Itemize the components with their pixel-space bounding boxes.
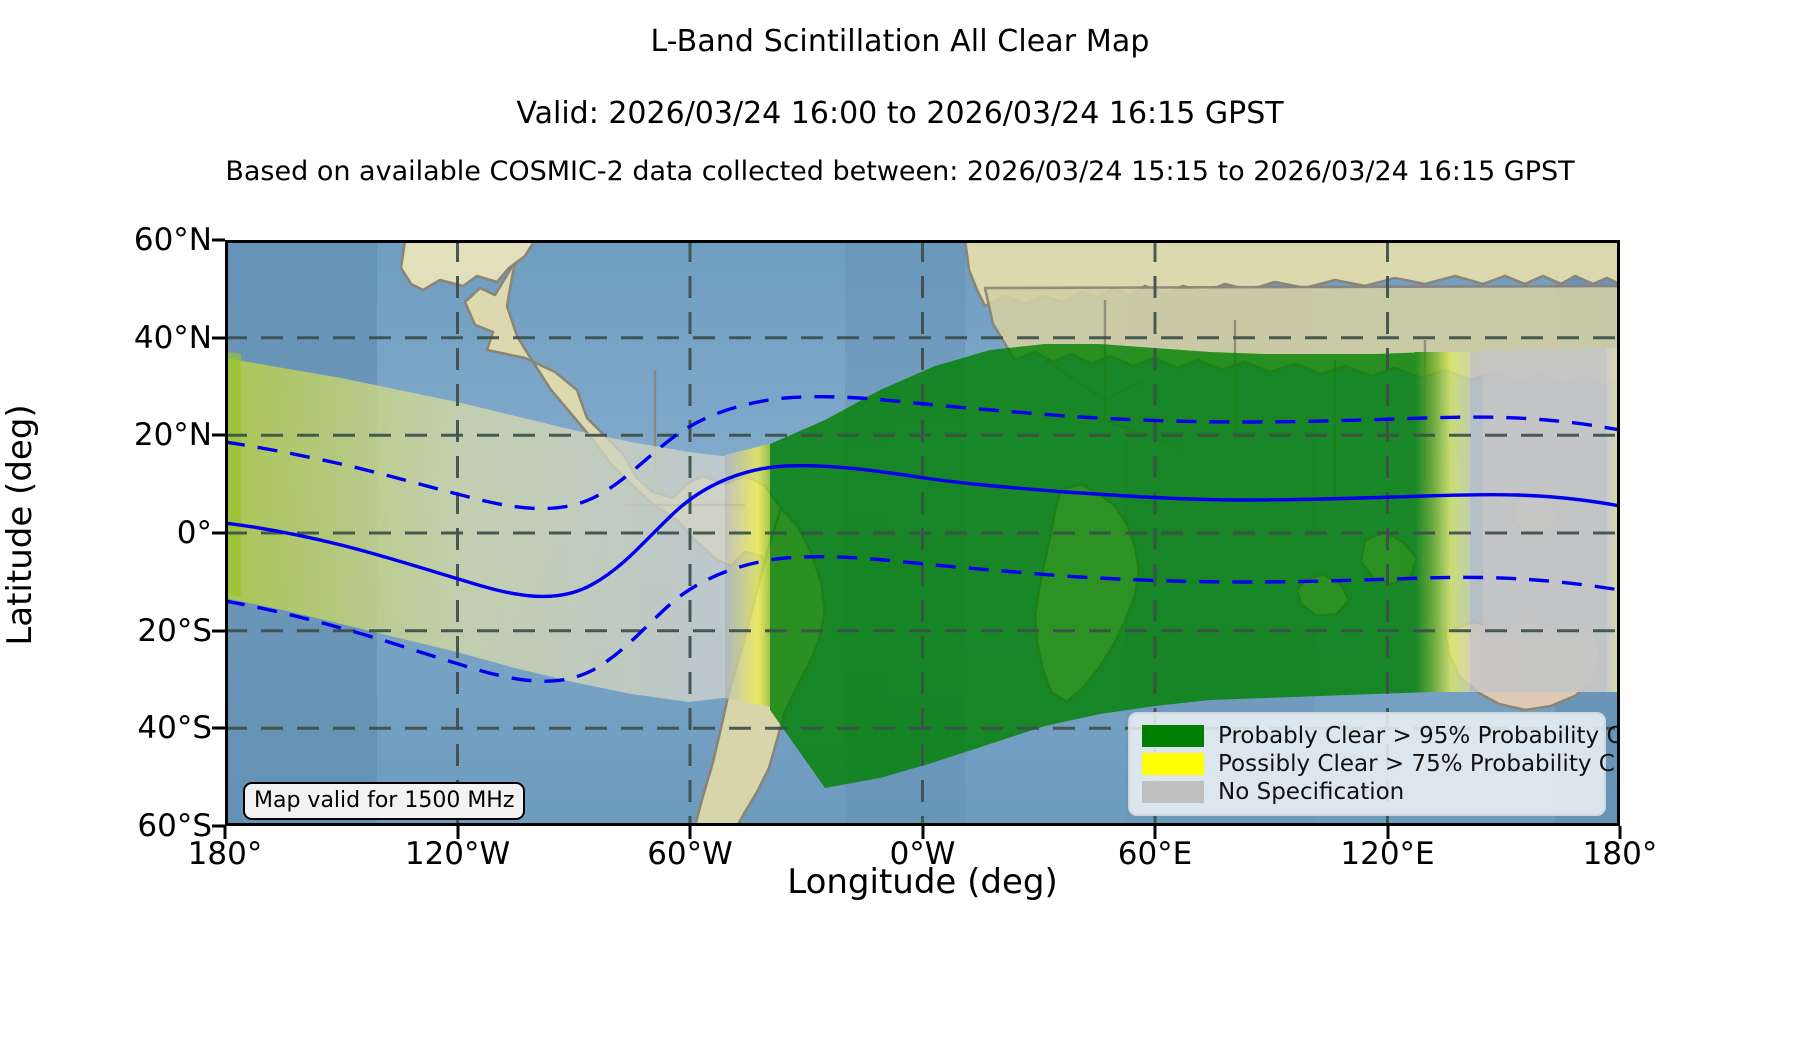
legend-item: Probably Clear > 95% Probability Clear [1142, 722, 1594, 749]
y-tick-label-60n: 60°N [134, 222, 212, 258]
x-tick-label-180w: 180° [188, 836, 263, 872]
legend-label: Probably Clear > 95% Probability Clear [1218, 723, 1620, 749]
x-tick-mark [921, 826, 924, 839]
x-tick-mark [1154, 826, 1157, 839]
legend-swatch-possibly-clear [1142, 753, 1204, 775]
frequency-annotation: Map valid for 1500 MHz [243, 782, 525, 820]
y-tick-mark [212, 434, 225, 437]
y-tick-label-40n: 40°N [134, 320, 212, 356]
legend-label: No Specification [1218, 779, 1404, 805]
y-tick-mark [212, 336, 225, 339]
legend-label: Possibly Clear > 75% Probability Clear [1218, 751, 1620, 777]
band-transition-to-green-east [1607, 346, 1620, 692]
y-tick-label-20n: 20°N [134, 417, 212, 453]
legend-swatch-probably-clear [1142, 725, 1204, 747]
page-title: L-Band Scintillation All Clear Map [0, 24, 1800, 59]
x-tick-mark [1386, 826, 1389, 839]
band-green-left-sliver [225, 352, 241, 596]
map-legend: Probably Clear > 95% Probability Clear P… [1128, 712, 1606, 816]
x-tick-label-180e: 180° [1583, 836, 1658, 872]
y-tick-mark [212, 629, 225, 632]
scintillation-map-page: L-Band Scintillation All Clear Map Valid… [0, 0, 1800, 1050]
y-axis-label: Latitude (deg) [0, 404, 40, 645]
x-tick-mark [456, 826, 459, 839]
x-tick-mark [1619, 826, 1622, 839]
x-tick-label-60w: 60°W [647, 836, 733, 872]
x-tick-label-60e: 60°E [1118, 836, 1193, 872]
band-no-spec-gap-east [1483, 348, 1615, 692]
map-plot-area[interactable]: Map valid for 1500 MHz Probably Clear > … [225, 240, 1620, 826]
y-tick-mark [212, 239, 225, 242]
legend-item: No Specification [1142, 778, 1594, 805]
x-tick-mark [224, 826, 227, 839]
data-source-subtitle: Based on available COSMIC-2 data collect… [0, 156, 1800, 187]
y-tick-label-0: 0° [177, 515, 212, 551]
legend-swatch-no-specification [1142, 781, 1204, 803]
y-tick-label-40s: 40°S [137, 710, 212, 746]
y-tick-mark [212, 727, 225, 730]
x-tick-label-120w: 120°W [405, 836, 510, 872]
x-tick-mark [689, 826, 692, 839]
x-tick-label-0: 0°W [890, 836, 956, 872]
y-tick-label-20s: 20°S [137, 613, 212, 649]
x-tick-label-120e: 120°E [1340, 836, 1434, 872]
legend-item: Possibly Clear > 75% Probability Clear [1142, 750, 1594, 777]
valid-period-subtitle: Valid: 2026/03/24 16:00 to 2026/03/24 16… [0, 96, 1800, 131]
y-tick-mark [212, 532, 225, 535]
